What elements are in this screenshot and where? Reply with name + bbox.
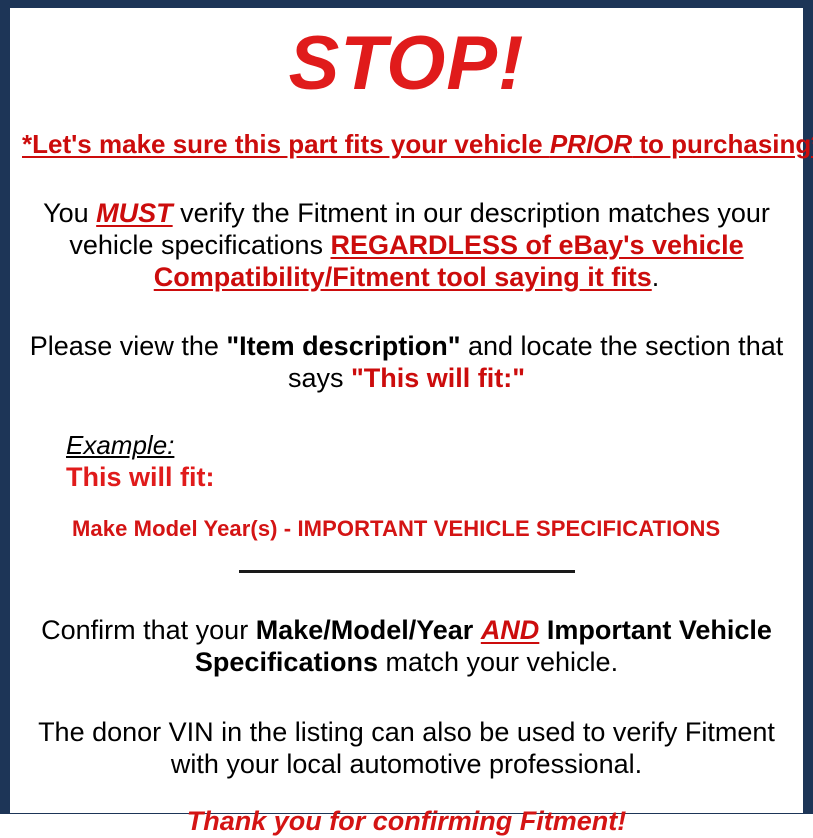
notice-content: STOP! *Let's make sure this part fits yo… (10, 26, 803, 813)
must-verify-paragraph: You MUST verify the Fitment in our descr… (22, 198, 791, 294)
must-paragraph-seg3: . (652, 262, 660, 292)
tagline: *Let's make sure this part fits your veh… (22, 130, 791, 160)
donor-vin-paragraph: The donor VIN in the listing can also be… (22, 717, 791, 781)
view-paragraph-seg1: Please view the (30, 331, 227, 361)
divider-wrapper (22, 563, 791, 581)
this-will-fit-label: "This will fit:" (351, 363, 525, 393)
example-block: Example: This will fit: Make Model Year(… (22, 431, 791, 541)
fitment-notice-card: STOP! *Let's make sure this part fits yo… (0, 0, 813, 814)
and-emphasis: AND (481, 615, 540, 645)
view-description-paragraph: Please view the "Item description" and l… (22, 331, 791, 395)
tagline-before: *Let's make sure this part fits your veh… (22, 129, 550, 159)
thank-you-message: Thank you for confirming Fitment! (22, 806, 791, 837)
example-spec-line: Make Model Year(s) - IMPORTANT VEHICLE S… (72, 517, 791, 541)
stop-title: STOP! (22, 26, 791, 102)
tagline-after: to purchasing* (632, 129, 813, 159)
tagline-emphasis: PRIOR (550, 129, 632, 159)
confirm-paragraph-seg1: Confirm that your (41, 615, 256, 645)
must-paragraph-seg1: You (43, 198, 96, 228)
example-label: Example: (66, 431, 174, 460)
confirm-paragraph-seg2: match your vehicle. (378, 647, 618, 677)
item-description-label: "Item description" (226, 331, 460, 361)
confirm-paragraph: Confirm that your Make/Model/Year AND Im… (22, 615, 791, 679)
make-model-year-label: Make/Model/Year (256, 615, 474, 645)
example-fit-heading: This will fit: (66, 462, 791, 493)
must-emphasis: MUST (96, 198, 173, 228)
example-label-row: Example: (66, 431, 791, 460)
horizontal-divider (239, 570, 575, 573)
